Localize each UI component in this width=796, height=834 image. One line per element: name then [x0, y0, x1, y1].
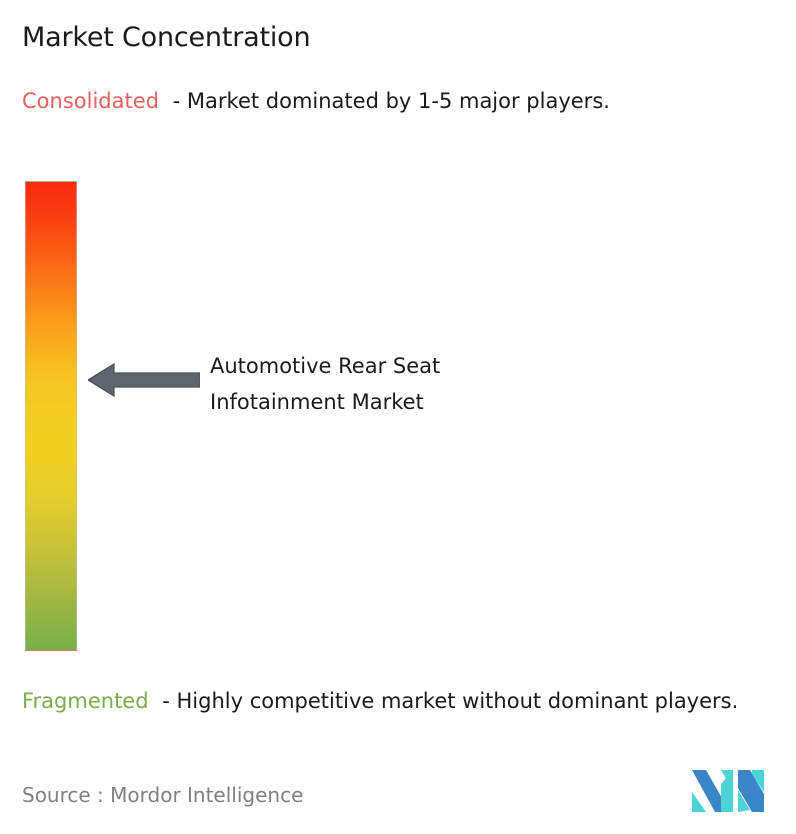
consolidated-keyword: Consolidated	[22, 89, 159, 113]
annotation-label: Automotive Rear Seat Infotainment Market	[210, 348, 630, 420]
annotation-label-line1: Automotive Rear Seat	[210, 348, 630, 384]
consolidated-caption: Consolidated - Market dominated by 1-5 m…	[22, 86, 782, 117]
market-concentration-chart: Market Concentration Consolidated - Mark…	[0, 0, 796, 834]
concentration-gradient-bar	[25, 181, 77, 651]
fragmented-keyword: Fragmented	[22, 689, 149, 713]
left-arrow-icon	[88, 362, 200, 398]
fragmented-caption: Fragmented - Highly competitive market w…	[22, 686, 790, 717]
page-title: Market Concentration	[22, 20, 310, 56]
mordor-intelligence-logo-icon	[692, 770, 764, 812]
consolidated-description: - Market dominated by 1-5 major players.	[173, 89, 610, 113]
source-text: Source : Mordor Intelligence	[22, 781, 303, 809]
fragmented-description: - Highly competitive market without domi…	[162, 689, 738, 713]
annotation-label-line2: Infotainment Market	[210, 384, 630, 420]
